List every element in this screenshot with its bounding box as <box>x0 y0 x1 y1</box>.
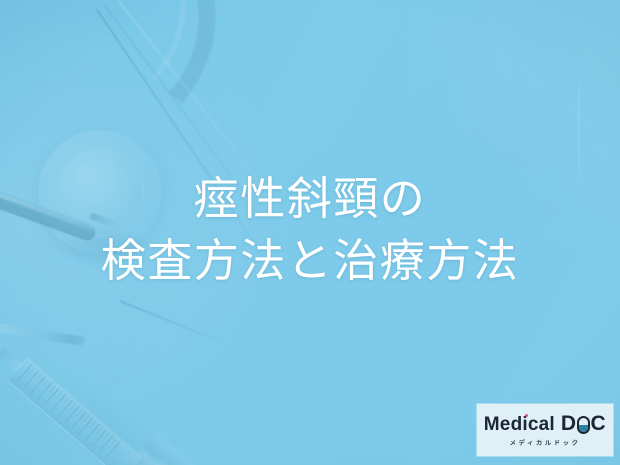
brand-logo-doc-letter-c: C <box>591 413 607 434</box>
title-line-2: 検査方法と治療方法 <box>0 230 620 292</box>
brand-logo-medical-text: Medical <box>484 415 555 434</box>
brand-logo-doc-text: D C <box>561 413 606 434</box>
brand-logo-wordmark: Medical D C <box>484 413 606 434</box>
pill-capsule-icon <box>577 416 590 434</box>
brand-logo[interactable]: Medical D C メディカルドック <box>477 404 613 456</box>
slide-canvas: 痙性斜頸の 検査方法と治療方法 Medical D C メディカルドック <box>0 0 620 465</box>
brand-logo-doc-letter-d: D <box>561 413 577 434</box>
page-title: 痙性斜頸の 検査方法と治療方法 <box>0 168 620 292</box>
brand-logo-subtitle: メディカルドック <box>510 437 581 446</box>
title-line-1: 痙性斜頸の <box>0 168 620 230</box>
brand-logo-accent-dot <box>525 414 528 417</box>
brand-logo-medical-label: Medical <box>484 414 555 435</box>
